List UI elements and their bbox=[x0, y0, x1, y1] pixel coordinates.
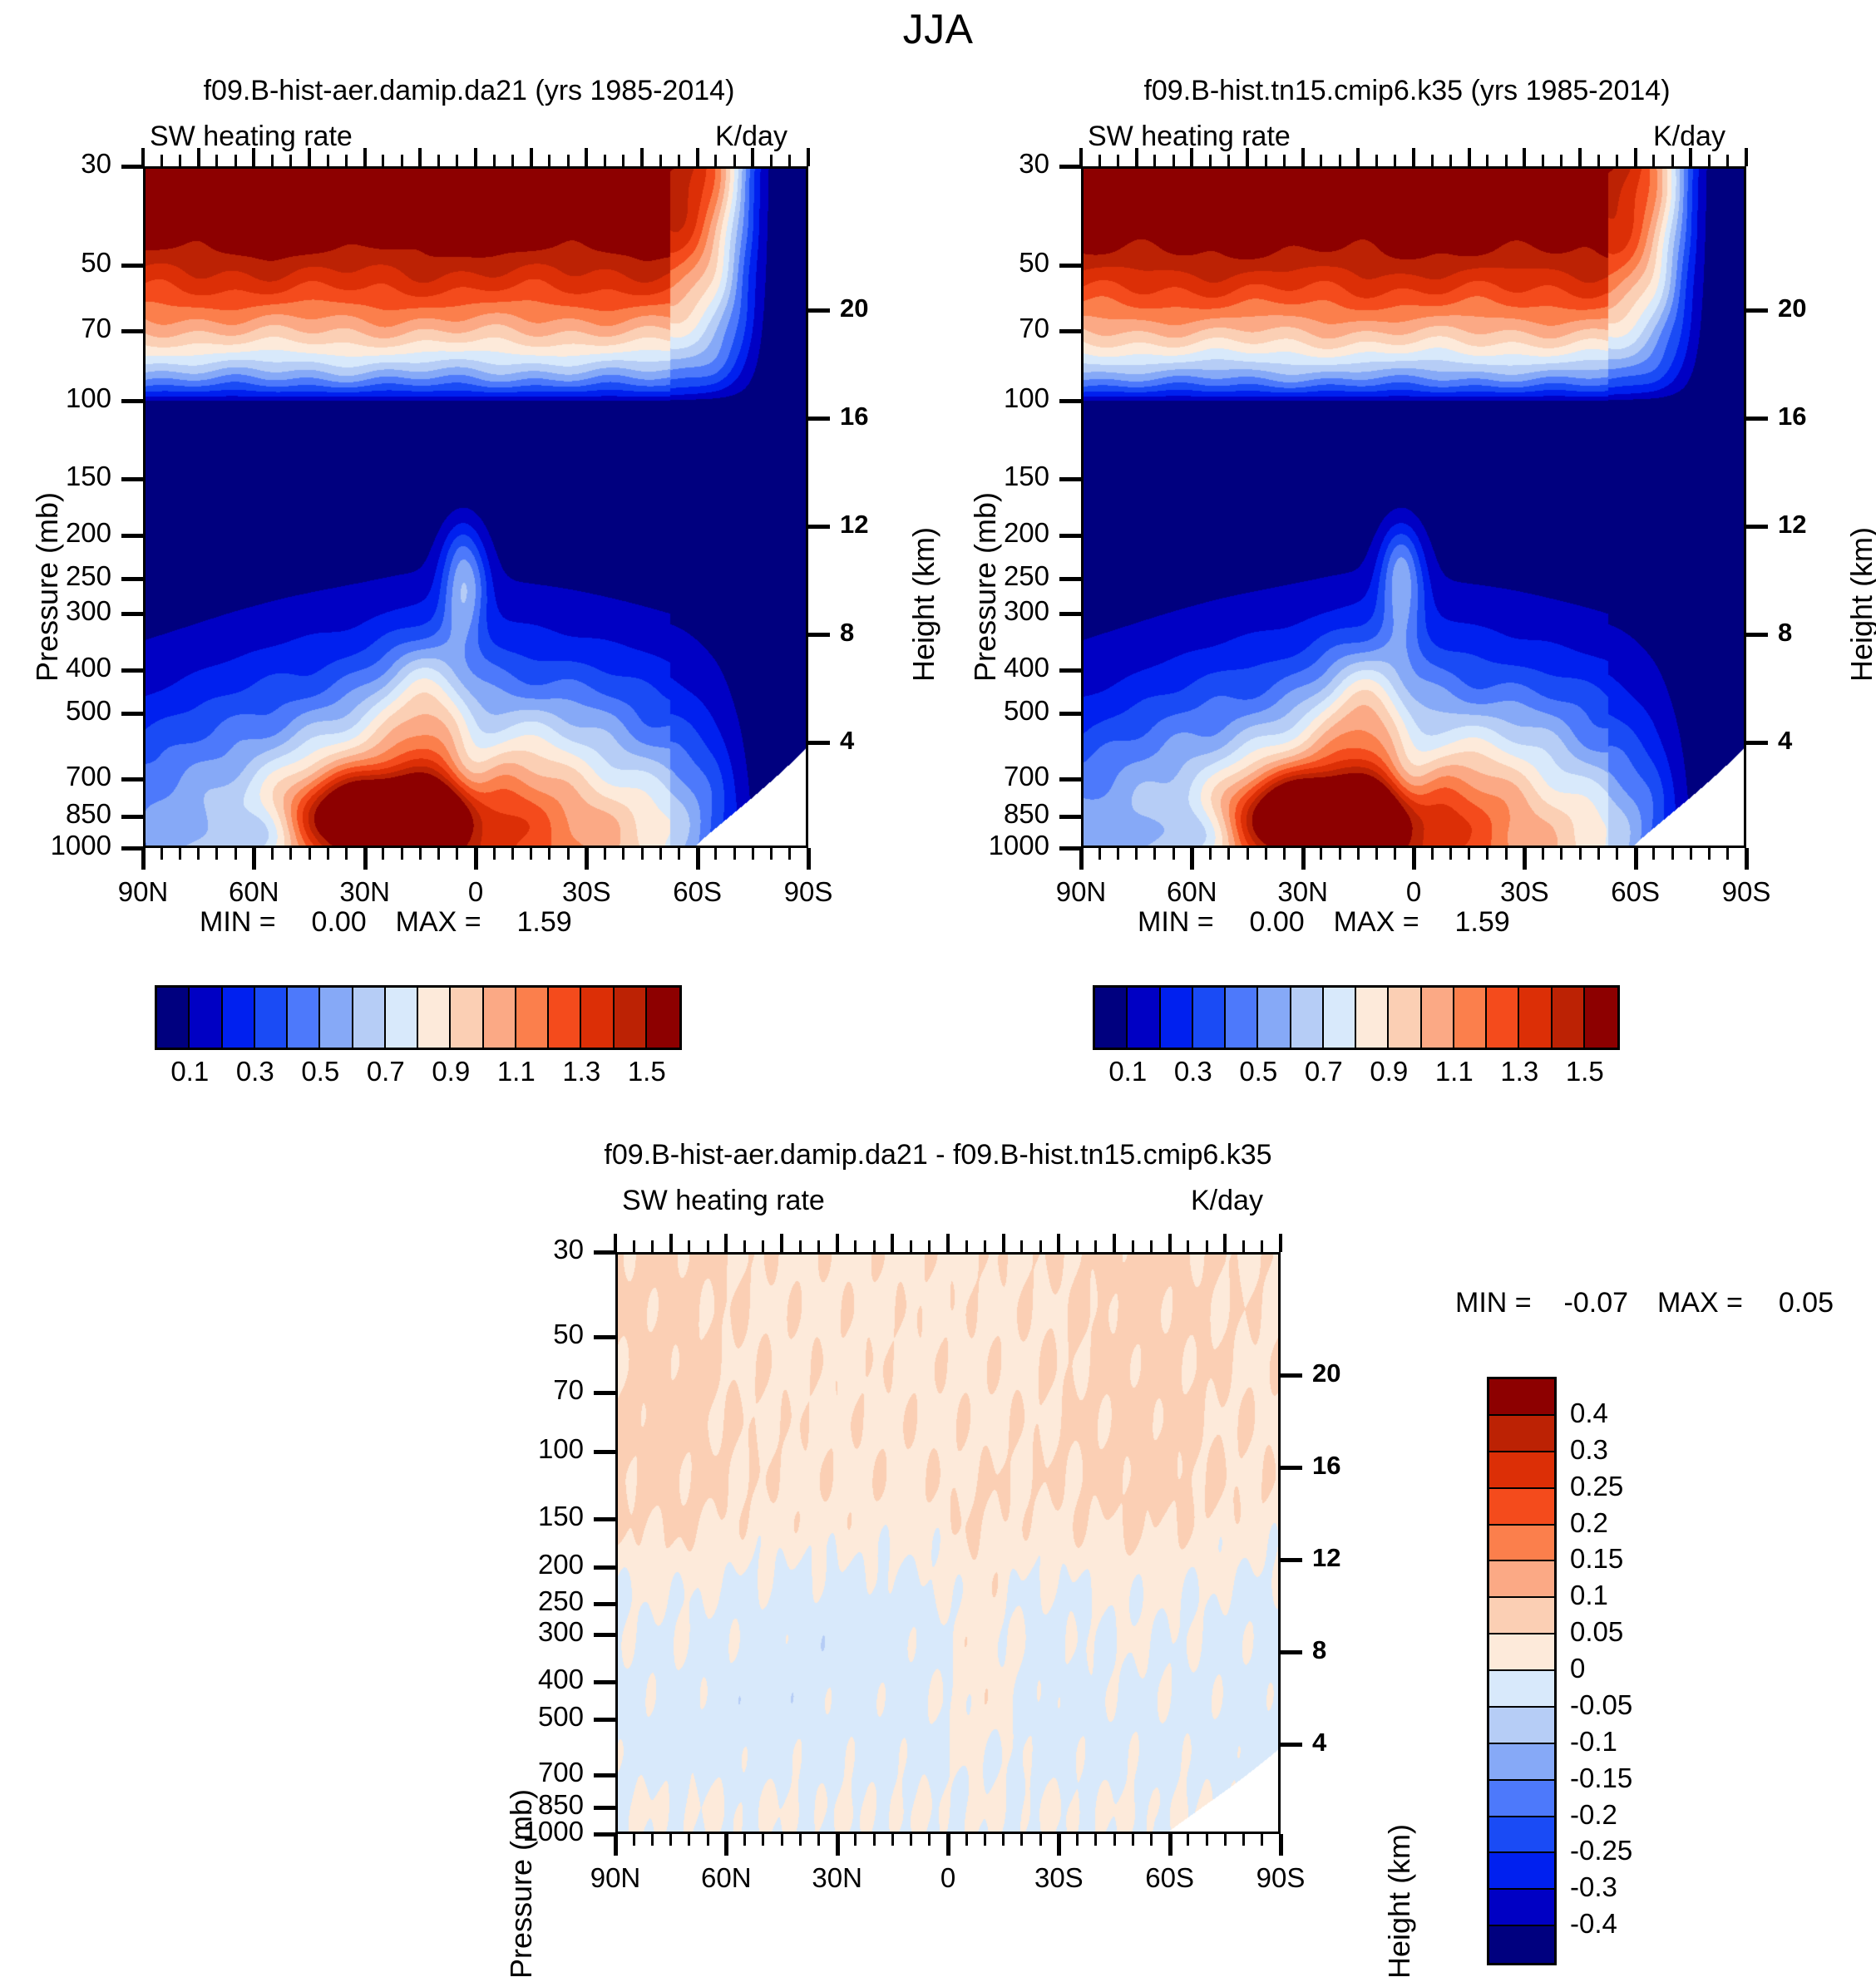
latitude-minor-tick bbox=[1135, 848, 1138, 860]
pressure-tick-label: 850 bbox=[1004, 798, 1049, 830]
pressure-tick bbox=[121, 329, 143, 333]
pressure-tick bbox=[594, 1602, 615, 1606]
latitude-minor-tick bbox=[799, 1240, 802, 1252]
latitude-minor-tick bbox=[743, 1834, 746, 1846]
latitude-major-tick bbox=[197, 148, 200, 166]
latitude-minor-tick bbox=[707, 1834, 709, 1846]
latitude-minor-tick bbox=[1726, 155, 1729, 166]
latitude-major-tick bbox=[1190, 148, 1193, 166]
latitude-minor-tick bbox=[1039, 1240, 1042, 1252]
colorbar-cell[interactable] bbox=[1291, 988, 1324, 1048]
latitude-minor-tick bbox=[1206, 1240, 1208, 1252]
pressure-tick-label: 50 bbox=[81, 247, 111, 279]
latitude-minor-tick bbox=[1242, 1834, 1245, 1846]
pressure-tick bbox=[1059, 329, 1081, 333]
pressure-tick-label: 500 bbox=[66, 695, 111, 727]
height-tick bbox=[1281, 1558, 1302, 1562]
colorbar-cell[interactable] bbox=[1553, 988, 1585, 1048]
pressure-tick-label: 250 bbox=[1004, 560, 1049, 592]
latitude-minor-tick bbox=[309, 848, 311, 860]
height-tick-label: 8 bbox=[1312, 1635, 1326, 1665]
latitude-tick-label: 30S bbox=[1034, 1862, 1084, 1894]
height-tick bbox=[1746, 525, 1768, 529]
height-tick bbox=[808, 525, 830, 529]
latitude-minor-tick bbox=[1261, 1834, 1263, 1846]
latitude-minor-tick bbox=[530, 848, 532, 860]
height-tick bbox=[1746, 308, 1768, 313]
latitude-minor-tick bbox=[1153, 848, 1156, 860]
latitude-minor-tick bbox=[678, 848, 680, 860]
colorbar-cell[interactable] bbox=[386, 988, 418, 1048]
colorbar-cell[interactable] bbox=[1095, 988, 1128, 1048]
latitude-tick bbox=[141, 848, 146, 870]
pressure-tick bbox=[121, 815, 143, 819]
latitude-minor-tick bbox=[437, 155, 440, 166]
latitude-major-tick bbox=[1745, 148, 1748, 166]
pressure-tick-label: 300 bbox=[538, 1616, 584, 1648]
latitude-minor-tick bbox=[1542, 155, 1544, 166]
colorbar-cell[interactable] bbox=[1489, 1817, 1554, 1854]
latitude-minor-tick bbox=[752, 848, 754, 860]
latitude-tick bbox=[585, 848, 589, 870]
latitude-minor-tick bbox=[1150, 1240, 1153, 1252]
latitude-major-tick bbox=[1412, 148, 1415, 166]
colorbar-cell[interactable] bbox=[288, 988, 320, 1048]
latitude-minor-tick bbox=[345, 848, 348, 860]
latitude-minor-tick bbox=[1616, 848, 1618, 860]
pressure-tick-label: 150 bbox=[1004, 461, 1049, 492]
panel-right-colorbar-labels: 0.10.30.50.70.91.11.31.5 bbox=[1095, 1056, 1617, 1089]
colorbar-tick-label: -0.1 bbox=[1570, 1726, 1617, 1758]
latitude-minor-tick bbox=[1394, 848, 1396, 860]
latitude-minor-tick bbox=[271, 155, 274, 166]
colorbar-tick-label: 1.1 bbox=[1435, 1056, 1474, 1087]
panel-left-colorbar-labels: 0.10.30.50.70.91.11.31.5 bbox=[157, 1056, 679, 1089]
colorbar-cell[interactable] bbox=[1489, 1781, 1554, 1817]
height-tick-label: 8 bbox=[1778, 618, 1792, 648]
colorbar-tick-label: -0.25 bbox=[1570, 1835, 1632, 1866]
panel-right-pressure-axis-label: Pressure (mb) bbox=[968, 492, 1003, 682]
pressure-tick bbox=[1059, 577, 1081, 581]
colorbar-tick-label: 0.3 bbox=[1570, 1434, 1608, 1466]
latitude-tick-label: 30S bbox=[562, 876, 611, 908]
latitude-tick-label: 0 bbox=[940, 1862, 955, 1894]
colorbar-cell[interactable] bbox=[581, 988, 614, 1048]
latitude-tick bbox=[836, 1834, 840, 1856]
colorbar-tick-label: 0.9 bbox=[432, 1056, 470, 1087]
latitude-minor-tick bbox=[271, 848, 274, 860]
pressure-tick-label: 200 bbox=[1004, 517, 1049, 549]
colorbar-tick-label: 0 bbox=[1570, 1653, 1585, 1684]
colorbar-cell[interactable] bbox=[1489, 1926, 1554, 1963]
latitude-minor-tick bbox=[234, 848, 237, 860]
latitude-minor-tick bbox=[788, 155, 791, 166]
latitude-minor-tick bbox=[965, 1834, 968, 1846]
latitude-minor-tick bbox=[1671, 848, 1674, 860]
latitude-minor-tick bbox=[382, 848, 384, 860]
latitude-tick-label: 60S bbox=[1611, 876, 1660, 908]
colorbar-cell[interactable] bbox=[484, 988, 516, 1048]
pressure-tick-label: 1000 bbox=[989, 830, 1049, 861]
latitude-tick bbox=[1634, 848, 1638, 870]
latitude-minor-tick bbox=[160, 155, 163, 166]
latitude-minor-tick bbox=[1132, 1834, 1134, 1846]
latitude-minor-tick bbox=[215, 848, 218, 860]
latitude-tick bbox=[1745, 848, 1749, 870]
panel-right-title: f09.B-hist.tn15.cmip6.k35 (yrs 1985-2014… bbox=[938, 75, 1876, 107]
colorbar-cell[interactable] bbox=[1489, 1489, 1554, 1526]
latitude-minor-tick bbox=[984, 1834, 986, 1846]
latitude-minor-tick bbox=[1224, 1834, 1227, 1846]
height-tick bbox=[1281, 1466, 1302, 1470]
pressure-tick-label: 200 bbox=[538, 1549, 584, 1580]
latitude-minor-tick bbox=[1431, 155, 1434, 166]
pressure-tick-label: 200 bbox=[66, 517, 111, 549]
pressure-tick bbox=[594, 1250, 615, 1255]
colorbar-cell[interactable] bbox=[1454, 988, 1487, 1048]
panel-right-colorbar[interactable] bbox=[1093, 985, 1620, 1050]
colorbar-cell[interactable] bbox=[1193, 988, 1226, 1048]
latitude-major-tick bbox=[1135, 148, 1138, 166]
panel-left-pressure-axis-label: Pressure (mb) bbox=[30, 492, 65, 682]
pressure-tick-label: 100 bbox=[538, 1433, 584, 1465]
latitude-minor-tick bbox=[1486, 155, 1488, 166]
colorbar-cell[interactable] bbox=[1489, 1561, 1554, 1598]
panel-diff-colorbar[interactable] bbox=[1487, 1377, 1557, 1965]
latitude-minor-tick bbox=[1020, 1240, 1023, 1252]
panel-diff-units-label: K/day bbox=[1191, 1185, 1263, 1217]
latitude-tick bbox=[724, 1834, 728, 1856]
latitude-tick bbox=[1190, 848, 1194, 870]
pressure-tick-label: 500 bbox=[538, 1701, 584, 1733]
colorbar-cell[interactable] bbox=[1489, 1744, 1554, 1781]
pressure-tick-label: 300 bbox=[1004, 595, 1049, 627]
colorbar-cell[interactable] bbox=[223, 988, 255, 1048]
latitude-minor-tick bbox=[1265, 155, 1267, 166]
latitude-major-tick bbox=[1168, 1234, 1172, 1252]
latitude-major-tick bbox=[1002, 1234, 1005, 1252]
latitude-major-tick bbox=[780, 1234, 783, 1252]
colorbar-cell[interactable] bbox=[1489, 1890, 1554, 1926]
latitude-minor-tick bbox=[854, 1240, 857, 1252]
latitude-minor-tick bbox=[1261, 1240, 1263, 1252]
colorbar-tick-label: 0.3 bbox=[1174, 1056, 1212, 1087]
latitude-minor-tick bbox=[1375, 848, 1378, 860]
latitude-minor-tick bbox=[1486, 848, 1488, 860]
latitude-major-tick bbox=[1057, 1234, 1060, 1252]
colorbar-cell[interactable] bbox=[353, 988, 386, 1048]
panel-left-max-value: 1.59 bbox=[517, 906, 572, 938]
pressure-tick-label: 500 bbox=[1004, 695, 1049, 727]
pressure-tick bbox=[594, 1773, 615, 1777]
latitude-minor-tick bbox=[1542, 848, 1544, 860]
latitude-minor-tick bbox=[1616, 155, 1618, 166]
colorbar-tick-label: 0.2 bbox=[1570, 1507, 1608, 1539]
colorbar-cell[interactable] bbox=[647, 988, 679, 1048]
pressure-tick bbox=[1059, 777, 1081, 781]
latitude-minor-tick bbox=[1172, 848, 1175, 860]
latitude-minor-tick bbox=[179, 848, 181, 860]
panel-diff-max-label: MAX = bbox=[1657, 1287, 1743, 1319]
latitude-minor-tick bbox=[1209, 848, 1212, 860]
pressure-tick-label: 300 bbox=[66, 595, 111, 627]
colorbar-cell[interactable] bbox=[320, 988, 353, 1048]
latitude-minor-tick bbox=[910, 1240, 912, 1252]
latitude-minor-tick bbox=[770, 848, 773, 860]
colorbar-cell[interactable] bbox=[549, 988, 581, 1048]
latitude-minor-tick bbox=[781, 1834, 783, 1846]
latitude-minor-tick bbox=[799, 1834, 802, 1846]
colorbar-tick-label: 0.7 bbox=[1305, 1056, 1343, 1087]
pressure-tick bbox=[1059, 612, 1081, 616]
colorbar-cell[interactable] bbox=[1489, 1634, 1554, 1671]
latitude-major-tick bbox=[308, 148, 311, 166]
latitude-minor-tick bbox=[688, 1240, 690, 1252]
latitude-tick-label: 90N bbox=[118, 876, 169, 908]
colorbar-cell[interactable] bbox=[1489, 1379, 1554, 1416]
colorbar-cell[interactable] bbox=[1489, 1526, 1554, 1562]
colorbar-cell[interactable] bbox=[1489, 1853, 1554, 1890]
height-tick bbox=[1746, 741, 1768, 745]
latitude-minor-tick bbox=[456, 848, 458, 860]
latitude-tick bbox=[363, 848, 368, 870]
latitude-minor-tick bbox=[567, 848, 570, 860]
latitude-tick bbox=[1301, 848, 1306, 870]
colorbar-cell[interactable] bbox=[1519, 988, 1552, 1048]
pressure-tick-label: 70 bbox=[553, 1374, 584, 1406]
colorbar-cell[interactable] bbox=[1324, 988, 1356, 1048]
latitude-major-tick bbox=[474, 148, 477, 166]
colorbar-tick-label: 0.5 bbox=[1239, 1056, 1277, 1087]
latitude-minor-tick bbox=[1505, 848, 1508, 860]
pressure-tick bbox=[121, 846, 143, 850]
latitude-minor-tick bbox=[1206, 1834, 1208, 1846]
latitude-major-tick bbox=[1689, 148, 1692, 166]
colorbar-cell[interactable] bbox=[1489, 1452, 1554, 1489]
pressure-tick-label: 700 bbox=[66, 761, 111, 792]
latitude-minor-tick bbox=[493, 848, 496, 860]
colorbar-tick-label: 0.25 bbox=[1570, 1471, 1623, 1502]
latitude-major-tick bbox=[1113, 1234, 1116, 1252]
latitude-minor-tick bbox=[327, 155, 329, 166]
colorbar-tick-label: -0.4 bbox=[1570, 1908, 1617, 1940]
colorbar-cell[interactable] bbox=[1356, 988, 1389, 1048]
colorbar-cell[interactable] bbox=[516, 988, 549, 1048]
latitude-minor-tick bbox=[1357, 848, 1360, 860]
pressure-tick bbox=[1059, 712, 1081, 716]
latitude-minor-tick bbox=[854, 1834, 857, 1846]
panel-left-max-label: MAX = bbox=[396, 906, 481, 938]
latitude-tick-label: 60N bbox=[701, 1862, 752, 1894]
latitude-minor-tick bbox=[928, 1240, 931, 1252]
height-tick bbox=[808, 417, 830, 421]
panel-left-height-axis-label: Height (km) bbox=[906, 527, 941, 682]
latitude-minor-tick bbox=[1150, 1834, 1153, 1846]
latitude-minor-tick bbox=[1265, 848, 1267, 860]
height-tick-label: 12 bbox=[1312, 1543, 1340, 1573]
colorbar-tick-label: 0.3 bbox=[236, 1056, 274, 1087]
latitude-minor-tick bbox=[669, 1834, 672, 1846]
pressure-tick bbox=[1059, 668, 1081, 673]
pressure-tick bbox=[121, 577, 143, 581]
latitude-tick-label: 90N bbox=[590, 1862, 641, 1894]
latitude-minor-tick bbox=[1505, 155, 1508, 166]
height-tick bbox=[1281, 1650, 1302, 1654]
colorbar-cell[interactable] bbox=[190, 988, 222, 1048]
colorbar-tick-label: 1.1 bbox=[497, 1056, 536, 1087]
colorbar-cell[interactable] bbox=[1487, 988, 1519, 1048]
pressure-tick bbox=[121, 534, 143, 538]
colorbar-cell[interactable] bbox=[1489, 1671, 1554, 1708]
latitude-minor-tick bbox=[1132, 1240, 1134, 1252]
latitude-tick-label: 30N bbox=[339, 876, 390, 908]
pressure-tick bbox=[121, 712, 143, 716]
latitude-major-tick bbox=[1634, 148, 1637, 166]
latitude-tick bbox=[1412, 848, 1416, 870]
latitude-minor-tick bbox=[604, 848, 606, 860]
colorbar-tick-label: 0.7 bbox=[367, 1056, 405, 1087]
pressure-tick-label: 50 bbox=[553, 1319, 584, 1350]
panel-left: f09.B-hist-aer.damip.da21 (yrs 1985-2014… bbox=[0, 75, 938, 1114]
pressure-tick bbox=[121, 165, 143, 169]
latitude-minor-tick bbox=[1283, 155, 1286, 166]
pressure-tick-label: 150 bbox=[538, 1501, 584, 1532]
pressure-tick bbox=[1059, 534, 1081, 538]
latitude-major-tick bbox=[1301, 148, 1305, 166]
pressure-tick bbox=[121, 477, 143, 481]
latitude-minor-tick bbox=[1094, 1834, 1097, 1846]
latitude-minor-tick bbox=[659, 155, 662, 166]
latitude-major-tick bbox=[696, 148, 699, 166]
latitude-minor-tick bbox=[1172, 155, 1175, 166]
pressure-tick-label: 700 bbox=[538, 1757, 584, 1788]
height-tick-label: 12 bbox=[840, 510, 868, 540]
latitude-minor-tick bbox=[1039, 1834, 1042, 1846]
latitude-tick-label: 90S bbox=[1256, 1862, 1306, 1894]
latitude-minor-tick bbox=[1708, 155, 1711, 166]
latitude-minor-tick bbox=[289, 155, 292, 166]
pressure-tick bbox=[594, 1718, 615, 1722]
colorbar-tick-label: 0.4 bbox=[1570, 1398, 1608, 1429]
colorbar-cell[interactable] bbox=[451, 988, 483, 1048]
figure-title: JJA bbox=[0, 5, 1876, 53]
height-tick bbox=[1281, 1373, 1302, 1378]
colorbar-cell[interactable] bbox=[157, 988, 190, 1048]
latitude-tick bbox=[807, 848, 811, 870]
latitude-minor-tick bbox=[622, 848, 625, 860]
pressure-tick-label: 100 bbox=[1004, 382, 1049, 414]
latitude-minor-tick bbox=[1339, 155, 1341, 166]
panel-left-min-value: 0.00 bbox=[312, 906, 367, 938]
colorbar-cell[interactable] bbox=[1489, 1416, 1554, 1452]
latitude-minor-tick bbox=[1449, 155, 1452, 166]
colorbar-cell[interactable] bbox=[418, 988, 451, 1048]
panel-left-variable-label: SW heating rate bbox=[150, 121, 353, 153]
latitude-minor-tick bbox=[707, 1240, 709, 1252]
latitude-minor-tick bbox=[1431, 848, 1434, 860]
latitude-minor-tick bbox=[327, 848, 329, 860]
latitude-minor-tick bbox=[1242, 1240, 1245, 1252]
colorbar-cell[interactable] bbox=[615, 988, 647, 1048]
colorbar-cell[interactable] bbox=[1161, 988, 1193, 1048]
latitude-minor-tick bbox=[1468, 848, 1470, 860]
latitude-major-tick bbox=[946, 1234, 950, 1252]
latitude-major-tick bbox=[1468, 148, 1471, 166]
pressure-tick bbox=[121, 399, 143, 403]
latitude-minor-tick bbox=[873, 1240, 876, 1252]
height-tick-label: 20 bbox=[1312, 1358, 1340, 1388]
height-tick-label: 16 bbox=[840, 402, 868, 431]
latitude-minor-tick bbox=[1671, 155, 1674, 166]
pressure-tick bbox=[1059, 815, 1081, 819]
latitude-tick-label: 60S bbox=[1145, 1862, 1194, 1894]
latitude-minor-tick bbox=[910, 1834, 912, 1846]
colorbar-cell[interactable] bbox=[255, 988, 288, 1048]
panel-right-plot-area bbox=[1081, 166, 1746, 848]
latitude-major-tick bbox=[530, 148, 533, 166]
latitude-minor-tick bbox=[714, 155, 717, 166]
latitude-tick-label: 90S bbox=[1722, 876, 1771, 908]
latitude-minor-tick bbox=[788, 848, 791, 860]
panel-left-colorbar[interactable] bbox=[155, 985, 682, 1050]
latitude-major-tick bbox=[1279, 1234, 1282, 1252]
latitude-minor-tick bbox=[1375, 155, 1378, 166]
latitude-major-tick bbox=[1356, 148, 1360, 166]
panel-left-minmax: MIN = 0.00 MAX = 1.59 bbox=[200, 906, 572, 939]
pressure-tick bbox=[121, 668, 143, 673]
pressure-tick-label: 100 bbox=[66, 382, 111, 414]
latitude-major-tick bbox=[1246, 148, 1249, 166]
colorbar-cell[interactable] bbox=[1128, 988, 1160, 1048]
latitude-minor-tick bbox=[1560, 155, 1563, 166]
pressure-tick-label: 250 bbox=[538, 1585, 584, 1617]
colorbar-cell[interactable] bbox=[1258, 988, 1291, 1048]
latitude-minor-tick bbox=[817, 1834, 820, 1846]
latitude-tick-label: 30N bbox=[1277, 876, 1328, 908]
latitude-minor-tick bbox=[234, 155, 237, 166]
latitude-major-tick bbox=[640, 148, 644, 166]
latitude-minor-tick bbox=[1283, 848, 1286, 860]
latitude-minor-tick bbox=[733, 848, 736, 860]
latitude-minor-tick bbox=[965, 1240, 968, 1252]
pressure-tick bbox=[1059, 264, 1081, 268]
latitude-tick-label: 60N bbox=[229, 876, 279, 908]
colorbar-tick-label: -0.05 bbox=[1570, 1689, 1632, 1721]
latitude-minor-tick bbox=[688, 1834, 690, 1846]
panel-right-height-axis-label: Height (km) bbox=[1844, 527, 1876, 682]
colorbar-cell[interactable] bbox=[1585, 988, 1617, 1048]
pressure-tick bbox=[594, 1565, 615, 1570]
latitude-minor-tick bbox=[633, 1240, 635, 1252]
pressure-tick bbox=[1059, 399, 1081, 403]
colorbar-cell[interactable] bbox=[1226, 988, 1258, 1048]
latitude-minor-tick bbox=[733, 155, 736, 166]
panel-diff-colorbar-labels: 0.40.30.250.20.150.10.050-0.05-0.1-0.15-… bbox=[1570, 1377, 1720, 1960]
latitude-minor-tick bbox=[1449, 848, 1452, 860]
latitude-tick-label: 60S bbox=[673, 876, 722, 908]
colorbar-cell[interactable] bbox=[1422, 988, 1454, 1048]
colorbar-cell[interactable] bbox=[1489, 1708, 1554, 1744]
latitude-major-tick bbox=[1523, 148, 1526, 166]
panel-diff-title: f09.B-hist-aer.damip.da21 - f09.B-hist.t… bbox=[0, 1139, 1876, 1171]
latitude-minor-tick bbox=[511, 848, 514, 860]
height-tick bbox=[1746, 417, 1768, 421]
colorbar-cell[interactable] bbox=[1489, 1598, 1554, 1634]
colorbar-tick-label: 1.3 bbox=[1500, 1056, 1538, 1087]
pressure-tick-label: 1000 bbox=[523, 1816, 584, 1847]
colorbar-cell[interactable] bbox=[1389, 988, 1421, 1048]
latitude-major-tick bbox=[807, 148, 810, 166]
